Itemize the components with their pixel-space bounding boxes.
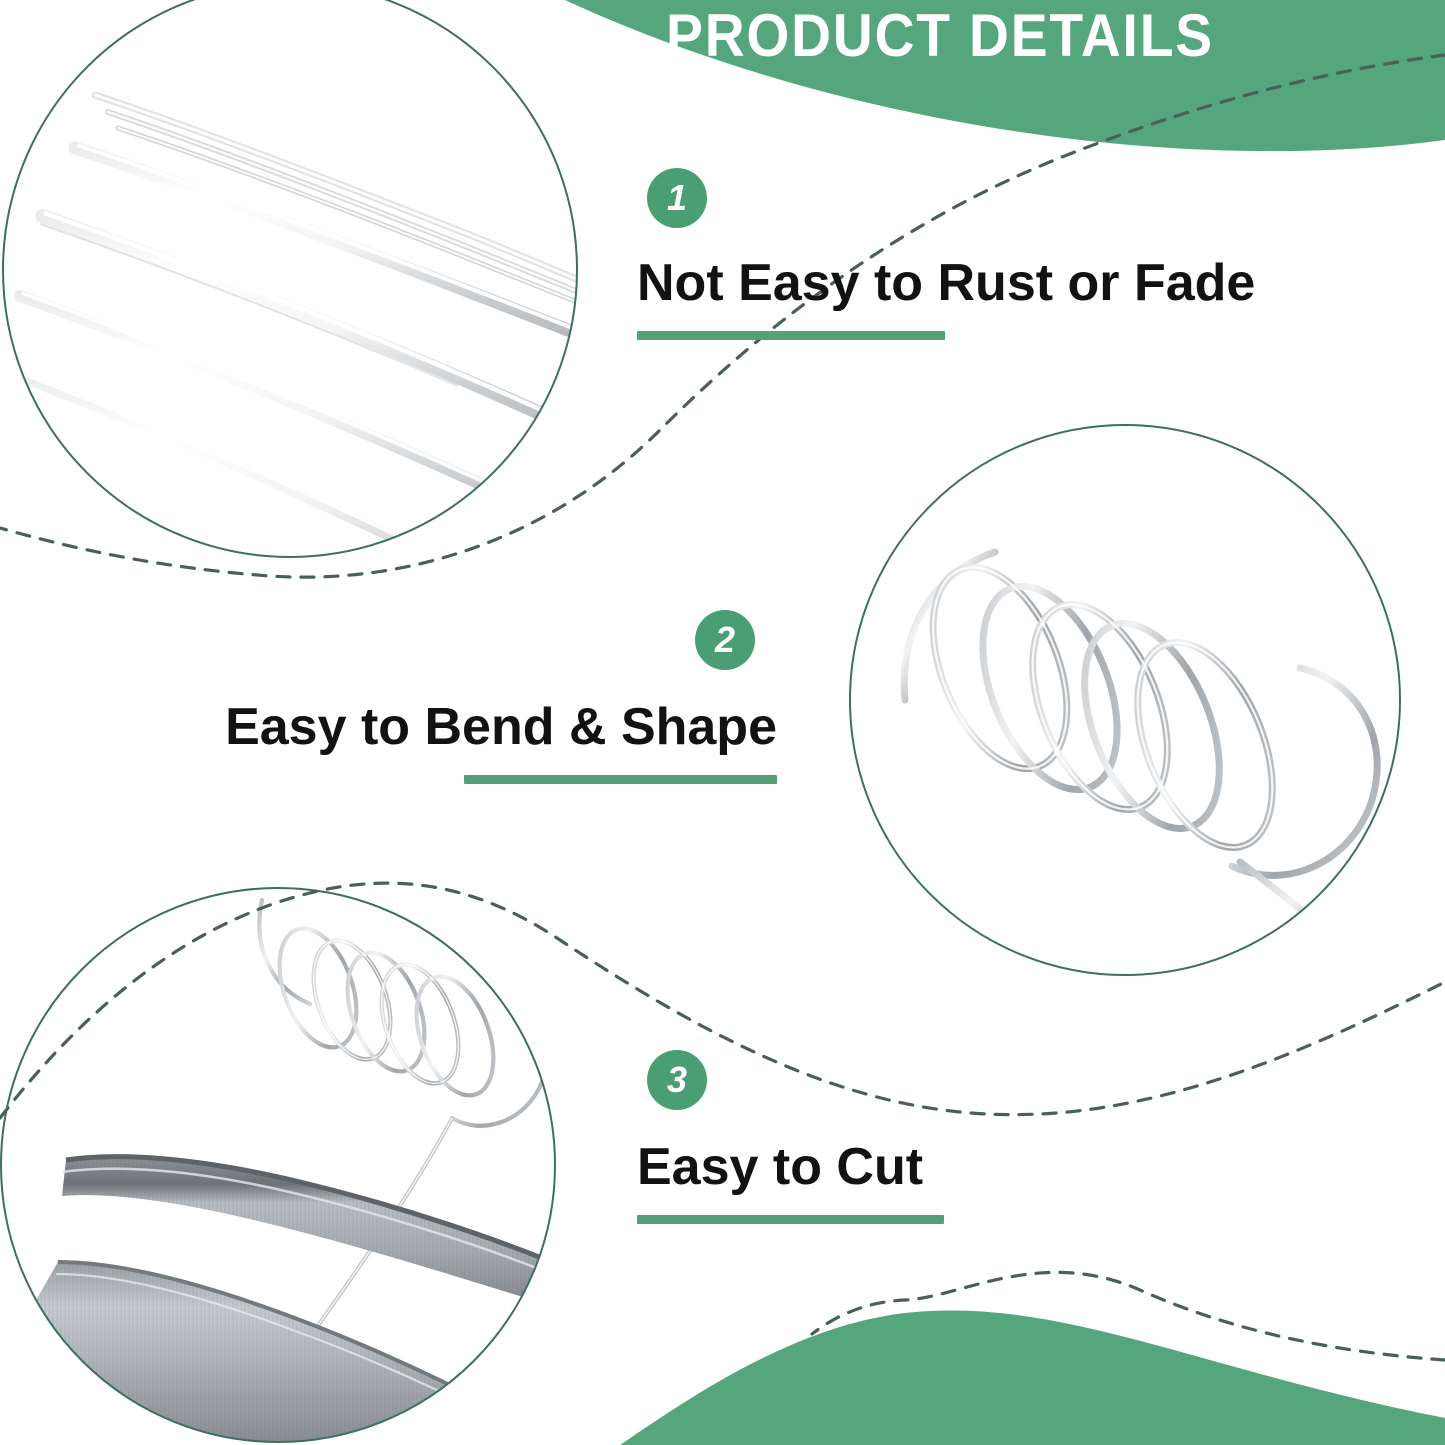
photo-wire-strands <box>0 0 652 654</box>
scissor-blade-top <box>62 1157 566 1310</box>
feature-2-number-badge: 2 <box>695 610 755 670</box>
scissor-blade-bottom <box>36 1262 552 1445</box>
page-title: PRODUCT DETAILS <box>646 6 1235 66</box>
feature-item-2: 2 Easy to Bend & Shape <box>215 610 777 784</box>
feature-2-underline <box>464 775 777 784</box>
feature-1-number-badge: 1 <box>647 168 707 228</box>
feature-2-heading: Easy to Bend & Shape <box>215 700 777 755</box>
feature-3-heading: Easy to Cut <box>637 1140 944 1195</box>
feature-3-underline <box>637 1215 944 1224</box>
feature-1-underline <box>637 331 945 340</box>
footer-wave-shape <box>620 1311 1445 1445</box>
photo-wire-coil <box>840 415 1420 995</box>
photo-2-outline <box>850 425 1400 975</box>
dashed-curve-lower <box>812 1272 1445 1360</box>
photo-3-outline <box>1 888 555 1442</box>
product-details-page: PRODUCT DETAILS 1 Not Easy to Rust or Fa… <box>0 0 1445 1445</box>
feature-item-1: 1 Not Easy to Rust or Fade <box>637 168 1255 340</box>
photo-scissors-cutting-wire <box>0 885 570 1445</box>
feature-1-heading: Not Easy to Rust or Fade <box>637 256 1255 311</box>
feature-3-number-badge: 3 <box>647 1050 707 1110</box>
feature-item-3: 3 Easy to Cut <box>637 1050 944 1224</box>
photo-1-outline <box>3 0 577 557</box>
